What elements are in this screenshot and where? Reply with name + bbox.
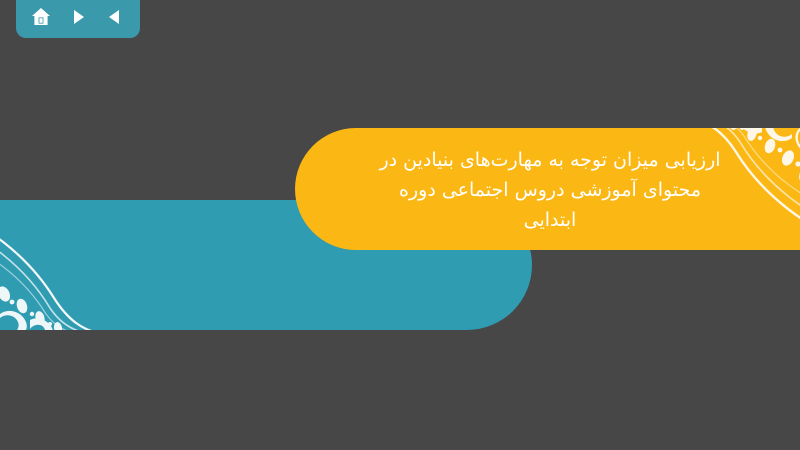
next-slide-button[interactable] [65,4,91,30]
orange-title-band [295,128,800,250]
slide-navigation-bar [16,0,140,38]
arabesque-ornament-top-right-icon [650,128,800,250]
arabesque-ornament-bottom-left-icon [0,200,140,330]
home-icon [30,6,52,28]
home-button[interactable] [28,4,54,30]
triangle-left-icon [105,7,125,27]
presentation-slide: ارزیابی میزان توجه به مهارت‌های بنیادین … [0,0,800,450]
triangle-right-icon [68,7,88,27]
previous-slide-button[interactable] [102,4,128,30]
